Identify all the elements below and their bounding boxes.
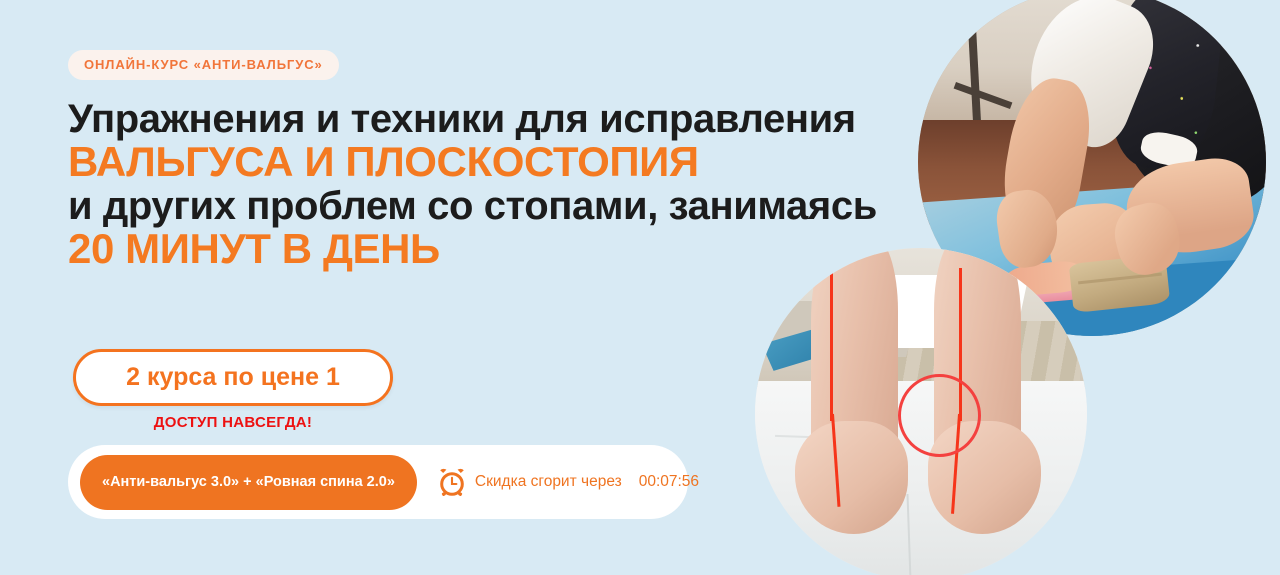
headline-line-3: и других проблем со стопами, занимаясь	[68, 185, 948, 227]
promo-banner: ОНЛАЙН-КУРС «АНТИ-ВАЛЬГУС» Упражнения и …	[0, 0, 1280, 575]
alignment-highlight-circle	[898, 374, 981, 457]
two-courses-one-price-button[interactable]: 2 курса по цене 1	[73, 349, 393, 406]
feet-alignment-photo-circle	[755, 248, 1087, 575]
countdown-group: Скидка сгорит через 00:07:56	[439, 468, 699, 496]
alarm-clock-icon	[439, 468, 465, 496]
countdown-value: 00:07:56	[639, 473, 699, 491]
headline-block: Упражнения и техники для исправления ВАЛ…	[68, 98, 948, 272]
lifetime-access-note: ДОСТУП НАВСЕГДА!	[73, 414, 393, 431]
alignment-line-left-upper	[830, 255, 833, 421]
feet-photo-left-heel	[795, 421, 908, 534]
course-badge: ОНЛАЙН-КУРС «АНТИ-ВАЛЬГУС»	[68, 50, 339, 80]
headline-line-1: Упражнения и техники для исправления	[68, 98, 948, 140]
headline-line-4: 20 МИНУТ В ДЕНЬ	[68, 227, 948, 272]
countdown-label: Скидка сгорит через	[475, 473, 622, 491]
bundle-offer-pill[interactable]: «Анти-вальгус 3.0» + «Ровная спина 2.0»	[80, 455, 417, 510]
offer-bar: «Анти-вальгус 3.0» + «Ровная спина 2.0» …	[68, 445, 688, 519]
headline-line-2: ВАЛЬГУСА И ПЛОСКОСТОПИЯ	[68, 140, 948, 185]
